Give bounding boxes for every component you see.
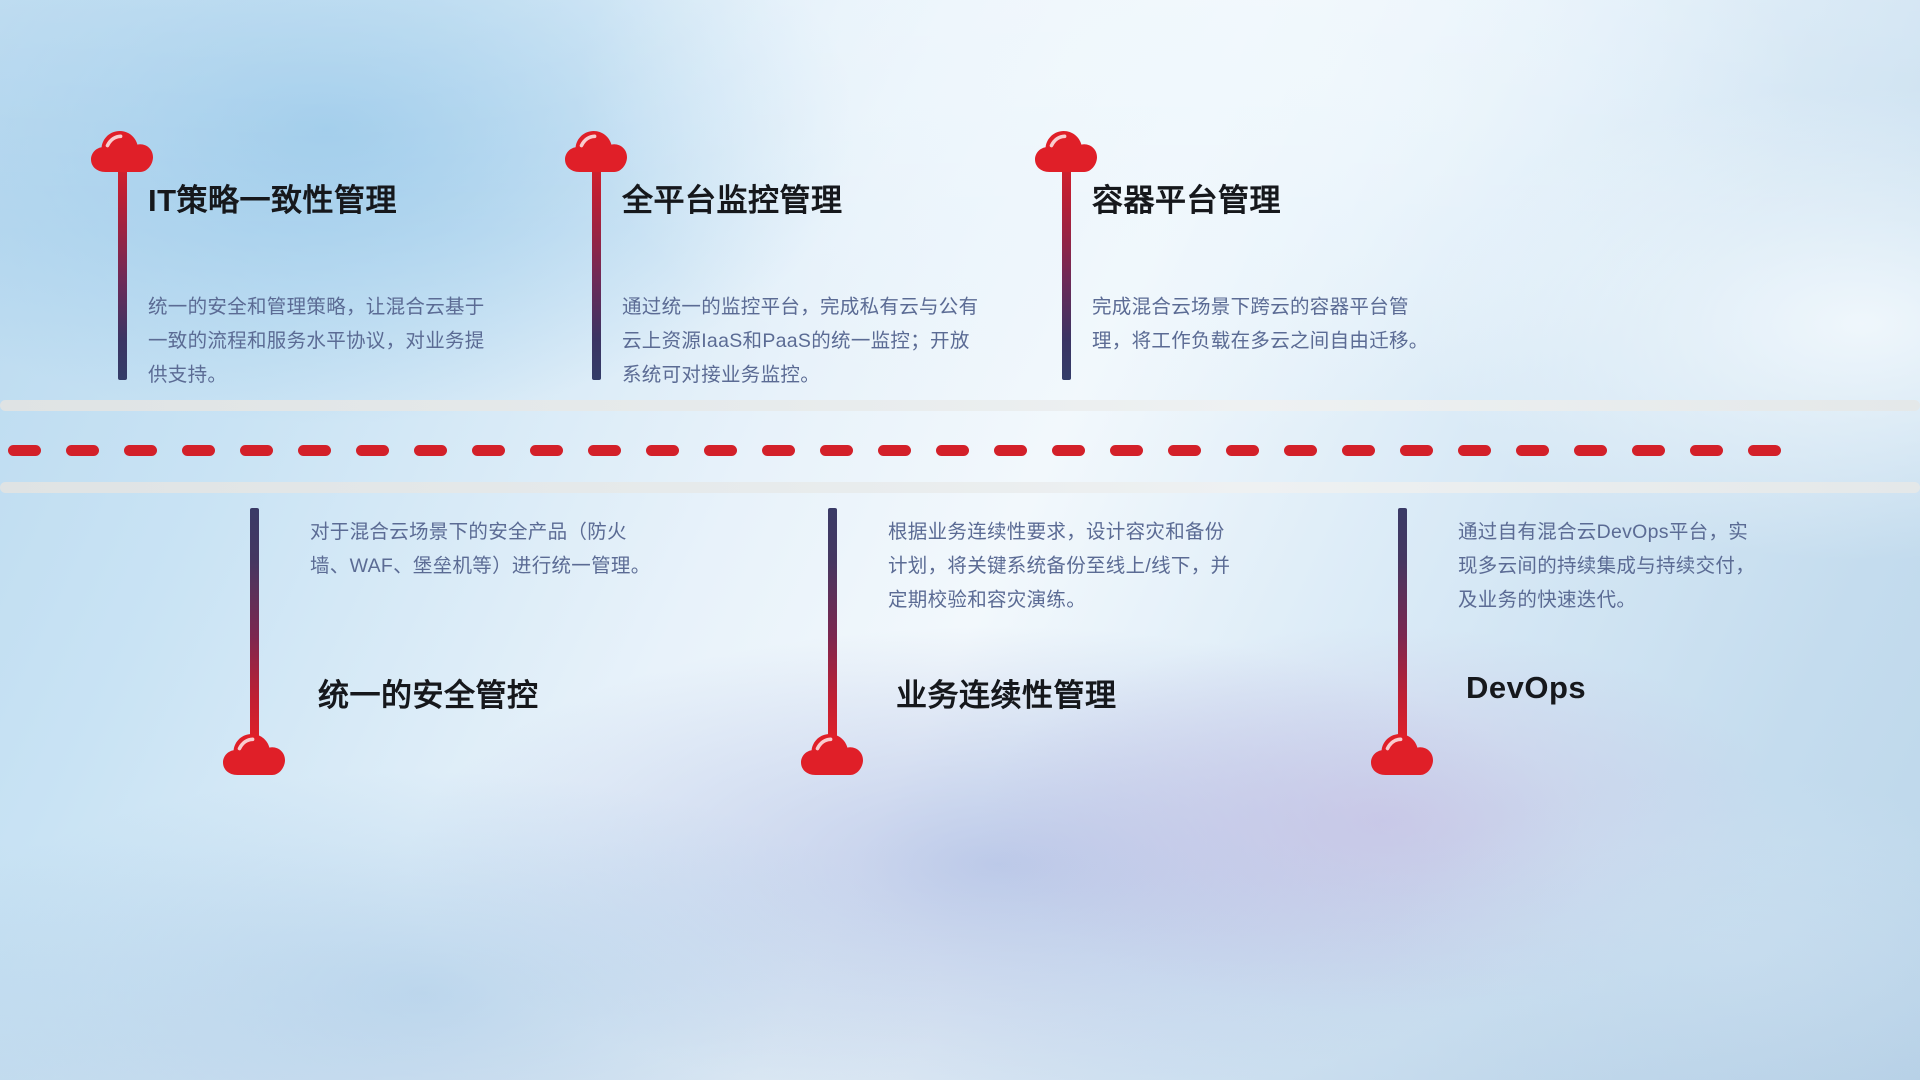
divider-dash [1632,445,1665,456]
dashed-divider-line [0,444,1920,457]
divider-dash [1110,445,1143,456]
card-title: 全平台监控管理 [622,175,843,220]
divider-dash [878,445,911,456]
divider-dash [298,445,331,456]
divider-dash [762,445,795,456]
divider-dash [1574,445,1607,456]
card-body: 完成混合云场景下跨云的容器平台管理，将工作负载在多云之间自由迁移。 [1092,290,1444,358]
divider-dash [240,445,273,456]
card-body: 通过自有混合云DevOps平台，实现多云间的持续集成与持续交付，及业务的快速迭代… [1458,515,1758,617]
card-body: 通过统一的监控平台，完成私有云与公有云上资源IaaS和PaaS的统一监控；开放系… [622,290,982,392]
divider-dash [414,445,447,456]
cloud-icon [564,128,628,174]
card-body: 对于混合云场景下的安全产品（防火墙、WAF、堡垒机等）进行统一管理。 [310,515,662,583]
divider-dash [1052,445,1085,456]
divider-dash [1516,445,1549,456]
divider-dash [1342,445,1375,456]
card-body: 根据业务连续性要求，设计容灾和备份计划，将关键系统备份至线上/线下，并定期校验和… [888,515,1240,617]
divider-dash [936,445,969,456]
divider-dash [588,445,621,456]
divider-dash [1458,445,1491,456]
divider-dash [1284,445,1317,456]
divider-dash [1748,445,1781,456]
divider-dash [1226,445,1259,456]
divider-dash [994,445,1027,456]
divider-dash [530,445,563,456]
divider-dash [1168,445,1201,456]
divider-dash [8,445,41,456]
divider-dash [646,445,679,456]
cloud-icon [1370,731,1434,777]
divider-dash [124,445,157,456]
cloud-icon [800,731,864,777]
divider-dash [1400,445,1433,456]
divider-bar-lower [0,482,1920,493]
timeline-stem [592,150,601,380]
divider-dash [820,445,853,456]
divider-dash [66,445,99,456]
card-title: 容器平台管理 [1092,175,1281,220]
divider-dash [472,445,505,456]
card-title: 业务连续性管理 [896,670,1117,715]
card-title: 统一的安全管控 [318,670,539,715]
divider-bar-upper [0,400,1920,411]
card-title: IT策略一致性管理 [148,175,397,220]
timeline-stem [828,508,837,740]
divider-dash [1690,445,1723,456]
cloud-icon [222,731,286,777]
timeline-stem [1062,150,1071,380]
cloud-icon [1034,128,1098,174]
cloud-icon [90,128,154,174]
card-body: 统一的安全和管理策略，让混合云基于一致的流程和服务水平协议，对业务提供支持。 [148,290,500,392]
divider-dash [356,445,389,456]
timeline-stem [250,508,259,740]
timeline-stem [1398,508,1407,740]
timeline-stem [118,150,127,380]
divider-dash [704,445,737,456]
divider-dash [182,445,215,456]
card-title: DevOps [1466,670,1586,706]
